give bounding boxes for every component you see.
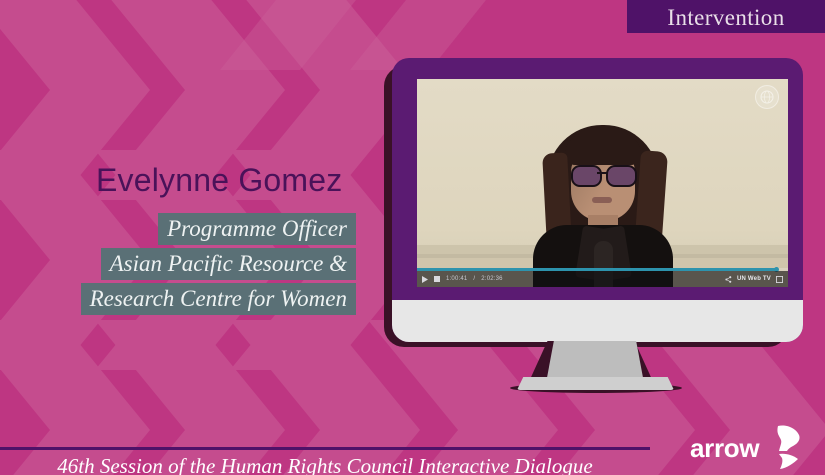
play-icon[interactable]: [422, 276, 428, 283]
speaker-name: Evelynne Gomez: [96, 162, 342, 199]
hair-fringe: [565, 133, 641, 165]
monitor-lower-bezel: [392, 300, 803, 342]
slide-canvas: Intervention Evelynne Gomez Programme Of…: [0, 0, 825, 475]
share-icon[interactable]: [725, 276, 732, 283]
eyeglass-lens-right: [606, 165, 637, 187]
video-control-row: 1:00:41 / 2:02:36 UN Web TV: [417, 271, 788, 287]
speaker-title-line-2: Asian Pacific Resource &: [101, 248, 356, 280]
speaker-title-line-3: Research Centre for Women: [81, 283, 356, 315]
speaker-title-row: Research Centre for Women: [0, 283, 356, 318]
speaker-title-row: Asian Pacific Resource &: [0, 248, 356, 283]
player-right-controls: UN Web TV: [725, 276, 783, 283]
arrow-logo: arrow: [690, 424, 802, 472]
video-speaker-figure: [533, 119, 673, 287]
video-brand-label: UN Web TV: [737, 276, 771, 282]
arrow-logo-wordmark: arrow: [690, 433, 759, 464]
speaker-title-row: Programme Officer: [0, 213, 356, 248]
video-current-time: 1:00:41: [446, 276, 467, 282]
eyeglass-lens-left: [571, 165, 602, 187]
un-logo-watermark: [755, 85, 779, 109]
video-time-separator: /: [473, 276, 475, 282]
fullscreen-icon[interactable]: [776, 276, 783, 283]
speaker-title-line-1: Programme Officer: [158, 213, 356, 245]
video-screen[interactable]: 1:00:41 / 2:02:36 UN Web TV: [417, 79, 788, 287]
mouth: [592, 197, 612, 203]
arrow-head-mark-icon: [768, 424, 802, 475]
player-left-controls: 1:00:41 / 2:02:36: [422, 276, 503, 283]
intervention-banner-label: Intervention: [667, 6, 784, 29]
video-player-controls[interactable]: 1:00:41 / 2:02:36 UN Web TV: [417, 268, 788, 287]
monitor-stand-neck: [546, 341, 644, 383]
video-total-time: 2:02:36: [481, 276, 502, 282]
footer-divider: [0, 447, 650, 450]
speaker-title-stack: Programme Officer Asian Pacific Resource…: [0, 213, 356, 318]
monitor-base: [517, 377, 674, 390]
footer-caption: 46th Session of the Human Rights Council…: [0, 455, 650, 475]
eyeglasses: [571, 165, 635, 183]
stop-icon[interactable]: [434, 276, 440, 282]
intervention-banner: Intervention: [627, 0, 825, 33]
